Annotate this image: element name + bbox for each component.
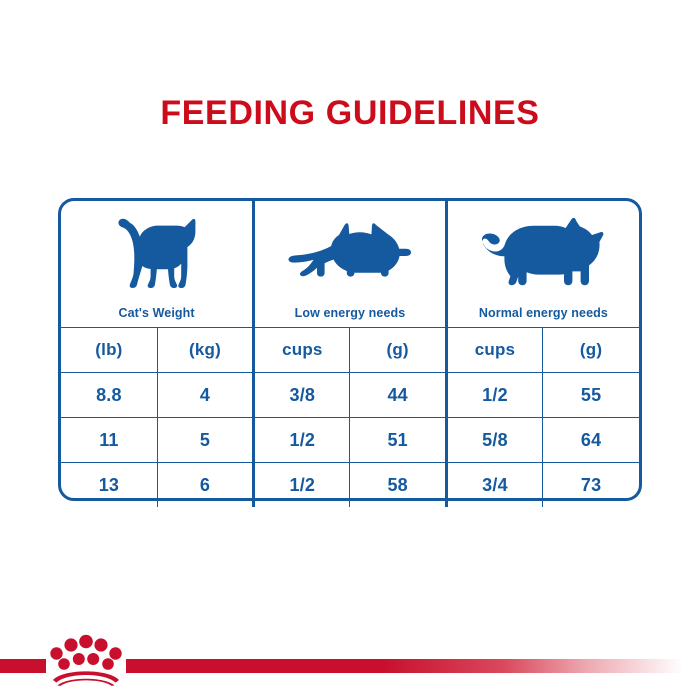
cell-normal-grams: 73 xyxy=(543,463,639,508)
cell-weight-kg: 4 xyxy=(157,373,253,418)
table-icon-header-row: Cat's Weight Low energy needs xyxy=(61,201,639,328)
subheader-normal-grams: (g) xyxy=(543,328,639,373)
standing-cat-icon xyxy=(61,201,252,305)
page-title: FEEDING GUIDELINES xyxy=(0,94,700,133)
cell-normal-grams: 64 xyxy=(543,418,639,463)
cell-normal-grams: 55 xyxy=(543,373,639,418)
cell-low-grams: 51 xyxy=(350,418,446,463)
cell-normal-cups: 5/8 xyxy=(446,418,542,463)
feeding-guidelines-table: Cat's Weight Low energy needs xyxy=(58,198,642,501)
cell-low-cups: 1/2 xyxy=(254,418,350,463)
table-row: 11 5 1/2 51 5/8 64 xyxy=(61,418,639,463)
cell-normal-cups: 1/2 xyxy=(446,373,542,418)
brand-bar-right-segment xyxy=(126,659,700,673)
cell-weight-lb: 13 xyxy=(61,463,157,508)
subheader-lb: (lb) xyxy=(61,328,157,373)
subheader-kg: (kg) xyxy=(157,328,253,373)
cell-normal-cups: 3/4 xyxy=(446,463,542,508)
table-row: 13 6 1/2 58 3/4 73 xyxy=(61,463,639,508)
header-cell-cats-weight: Cat's Weight xyxy=(61,201,254,328)
lying-cat-icon xyxy=(255,201,445,305)
header-label-low-energy: Low energy needs xyxy=(295,307,406,320)
royal-canin-crown-logo xyxy=(47,632,125,686)
brand-bar-left-segment xyxy=(0,659,46,673)
subheader-low-grams: (g) xyxy=(350,328,446,373)
cell-low-cups: 1/2 xyxy=(254,463,350,508)
cell-low-grams: 58 xyxy=(350,463,446,508)
cell-low-cups: 3/8 xyxy=(254,373,350,418)
header-cell-low-energy: Low energy needs xyxy=(254,201,447,328)
header-cell-normal-energy: Normal energy needs xyxy=(446,201,639,328)
table-row: 8.8 4 3/8 44 1/2 55 xyxy=(61,373,639,418)
header-label-cats-weight: Cat's Weight xyxy=(118,307,194,320)
cell-weight-kg: 6 xyxy=(157,463,253,508)
header-label-normal-energy: Normal energy needs xyxy=(479,307,608,320)
cell-weight-lb: 8.8 xyxy=(61,373,157,418)
cell-weight-kg: 5 xyxy=(157,418,253,463)
cell-low-grams: 44 xyxy=(350,373,446,418)
subheader-normal-cups: cups xyxy=(446,328,542,373)
walking-cat-icon xyxy=(448,201,639,305)
table-subheader-row: (lb) (kg) cups (g) cups (g) xyxy=(61,328,639,373)
subheader-low-cups: cups xyxy=(254,328,350,373)
cell-weight-lb: 11 xyxy=(61,418,157,463)
